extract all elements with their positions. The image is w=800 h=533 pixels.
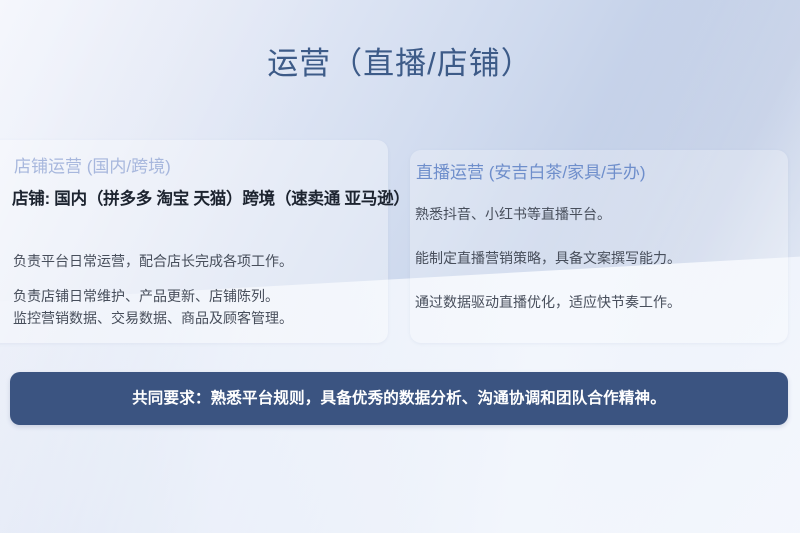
live-operations-bullet-list: 熟悉抖音、小红书等直播平台。 能制定直播营销策略，具备文案撰写能力。 通过数据驱… (415, 204, 775, 312)
store-operations-bullet-list: 负责平台日常运营，配合店长完成各项工作。 负责店铺日常维护、产品更新、店铺陈列。… (13, 251, 383, 328)
store-platforms-lead: 店铺: 国内（拼多多 淘宝 天猫）跨境（速卖通 亚马逊） (12, 187, 410, 211)
list-item: 负责店铺日常维护、产品更新、店铺陈列。 (13, 286, 383, 306)
list-item: 监控营销数据、交易数据、商品及顾客管理。 (13, 308, 383, 328)
card-heading-live-operations: 直播运营 (安吉白茶/家具/手办) (416, 162, 646, 184)
common-requirements-banner: 共同要求：熟悉平台规则，具备优秀的数据分析、沟通协调和团队合作精神。 (10, 372, 788, 425)
page-title: 运营（直播/店铺） (0, 44, 800, 84)
list-item: 通过数据驱动直播优化，适应快节奏工作。 (415, 292, 775, 312)
list-item: 熟悉抖音、小红书等直播平台。 (415, 204, 775, 224)
slide-canvas: 运营（直播/店铺） 店铺运营 (国内/跨境) 店铺: 国内（拼多多 淘宝 天猫）… (0, 0, 800, 533)
list-item: 负责平台日常运营，配合店长完成各项工作。 (13, 251, 383, 271)
common-requirements-text: 共同要求：熟悉平台规则，具备优秀的数据分析、沟通协调和团队合作精神。 (132, 388, 666, 410)
card-heading-store-operations: 店铺运营 (国内/跨境) (14, 156, 171, 178)
list-item: 能制定直播营销策略，具备文案撰写能力。 (415, 248, 775, 268)
slide-content-layer: 运营（直播/店铺） 店铺运营 (国内/跨境) 店铺: 国内（拼多多 淘宝 天猫）… (0, 0, 800, 533)
